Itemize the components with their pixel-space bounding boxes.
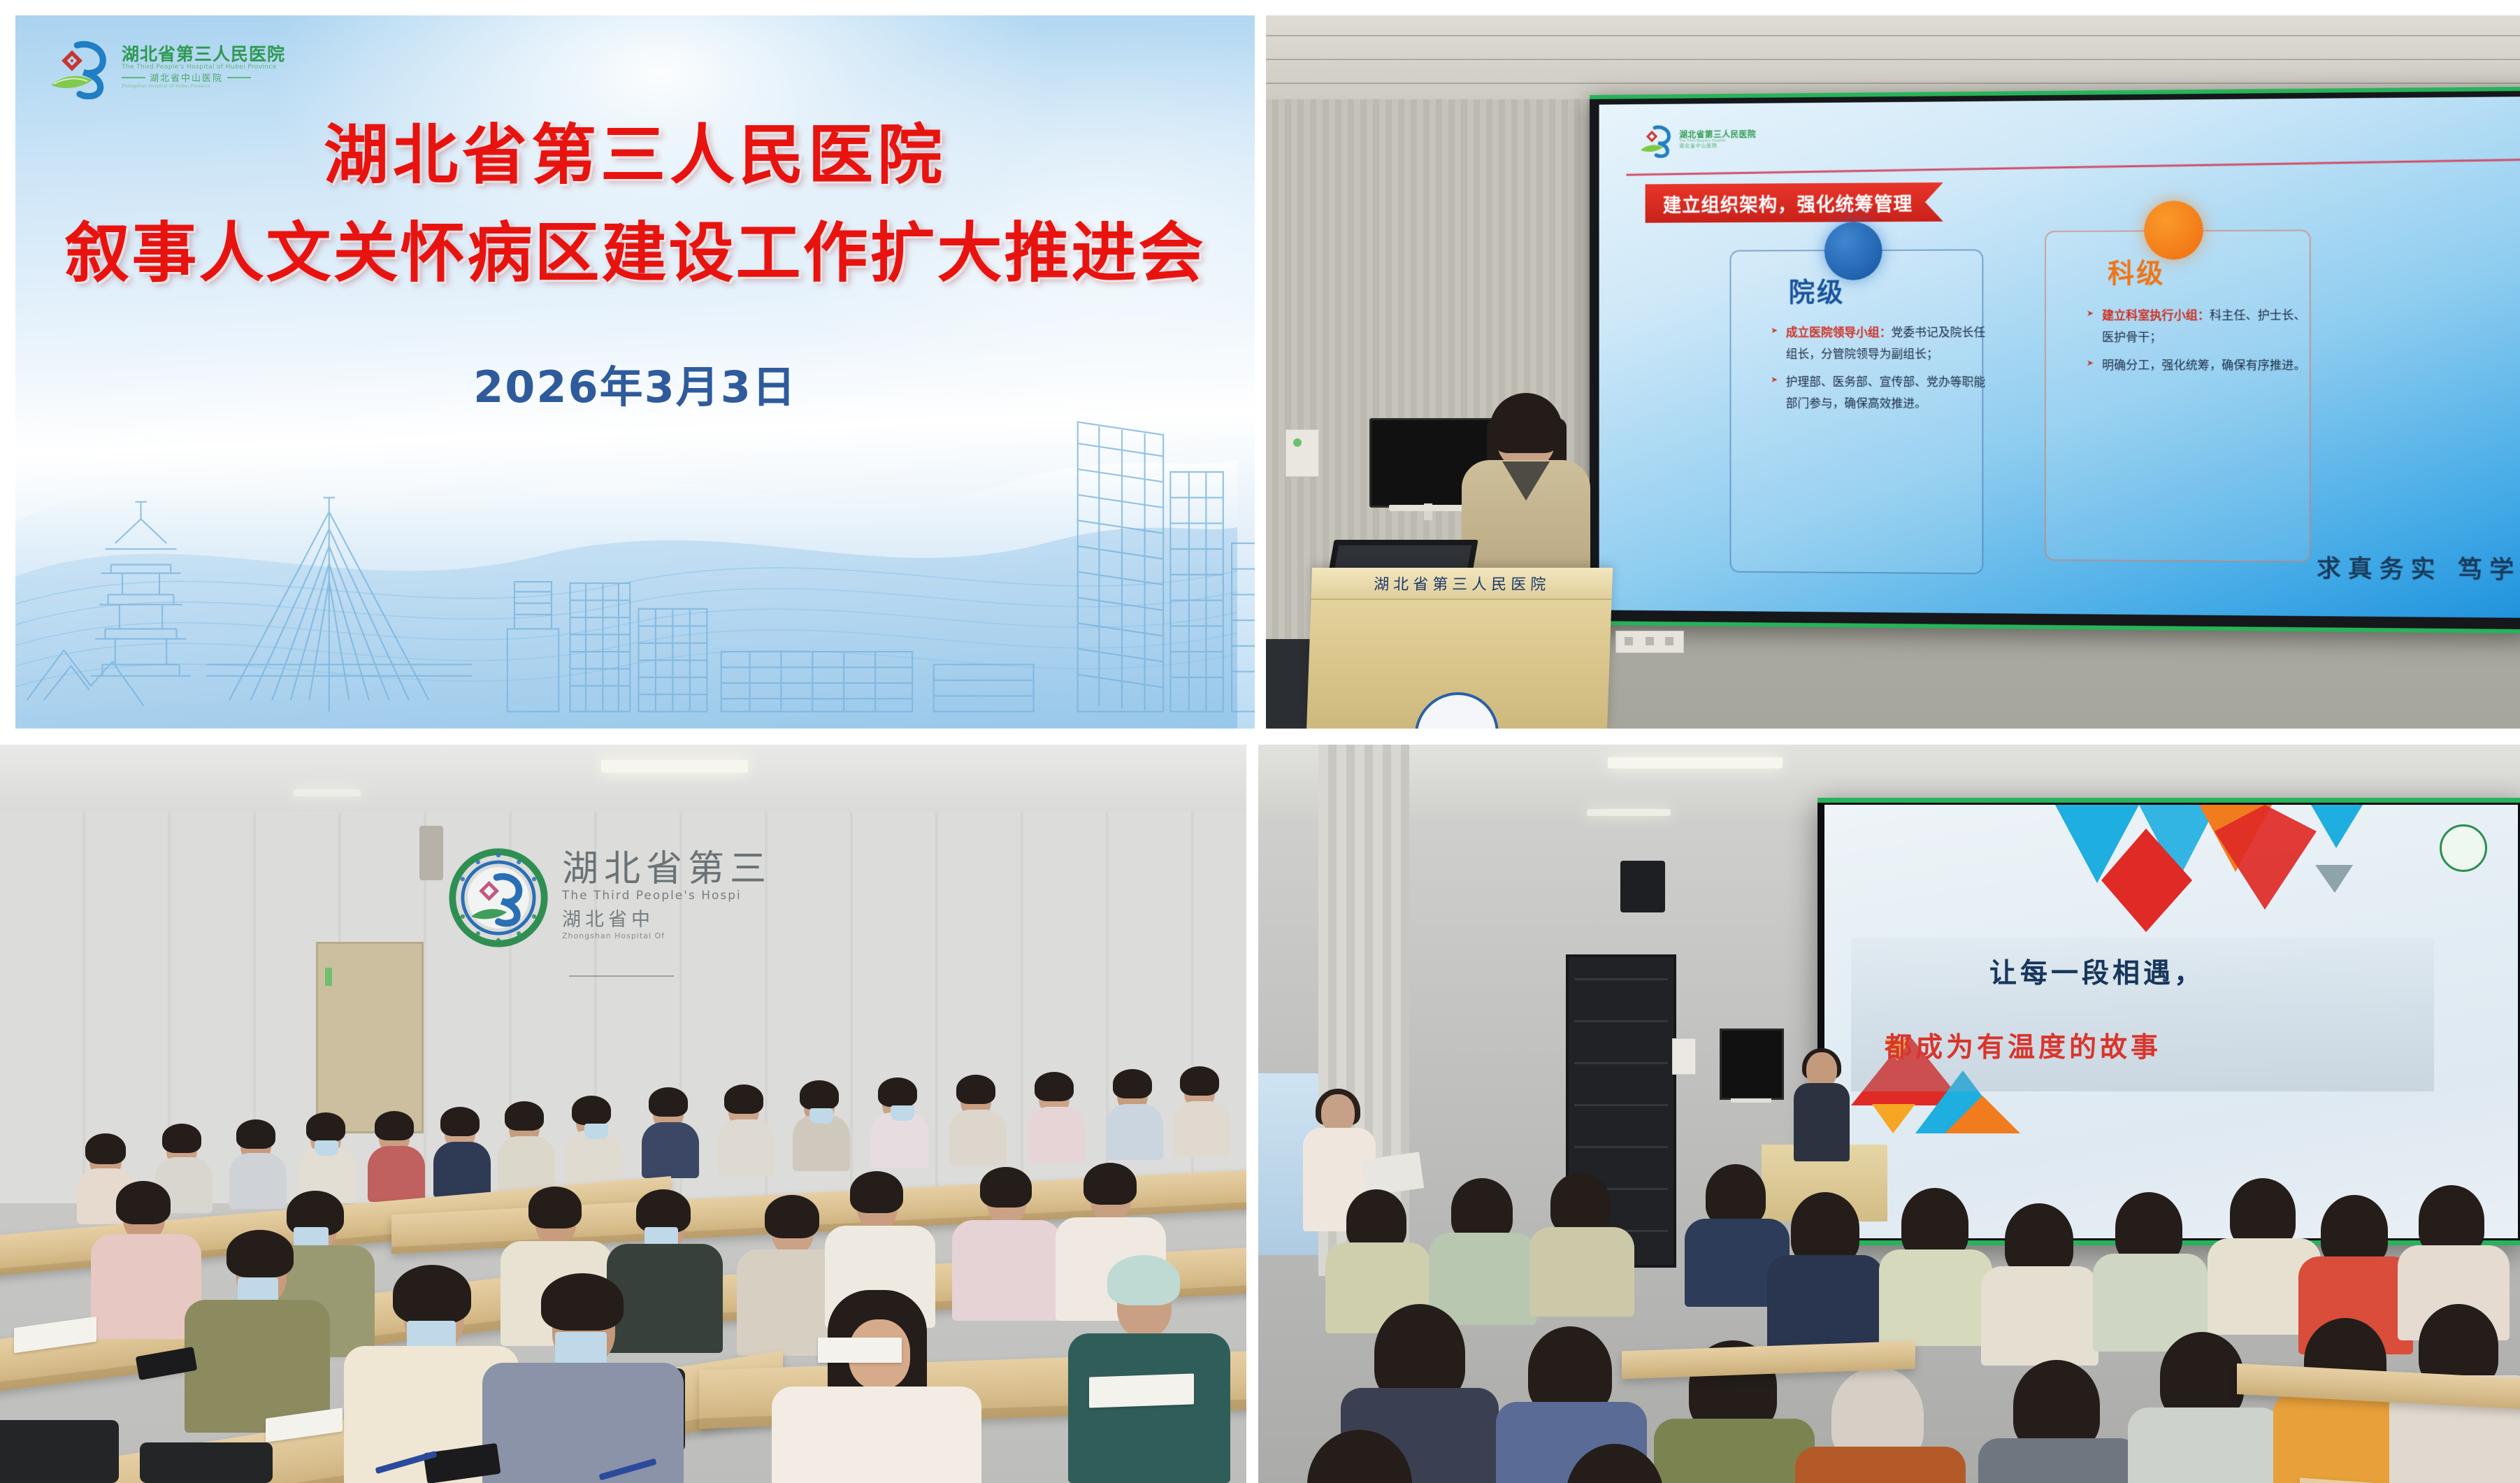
projected-slide: 让每一段相遇， 都成为有温度的故事: [1824, 805, 2518, 1238]
notebook-on-desk: [1089, 1373, 1194, 1407]
panel-lecture-hall: 让每一段相遇， 都成为有温度的故事: [1258, 745, 2520, 1483]
slide-logo-text: 湖北省第三人民医院 The Third People's Hospital 湖北…: [1679, 130, 1756, 149]
ceiling-light: [1587, 809, 1671, 816]
hospital-name-en: The Third People's Hospital of Hubei Pro…: [122, 64, 285, 71]
hospital-name-cn: 湖北省第三人民医院: [122, 45, 285, 63]
ceiling-light: [1608, 757, 1783, 768]
slide-card-title-department: 科级: [2108, 251, 2165, 289]
podium-text: 湖北省第三人民医院: [1374, 572, 1550, 594]
wall-control-plate[interactable]: [1672, 1038, 1696, 1075]
slide-logo-mark-icon: [1639, 122, 1674, 158]
hospital-logo-mark-icon: [48, 35, 112, 99]
slide-bullets-department: 建立科室执行小组：科主任、护士长、医护骨干； 明确分工，强化统筹，确保有序推进。: [2059, 305, 2311, 383]
slide-logo-cn: 湖北省第三人民医院: [1679, 130, 1756, 139]
wall-sign-name-en: The Third People's Hospi: [562, 890, 772, 902]
wall-hospital-sign: 湖北省第三 The Third People's Hospi 湖北省中 Zhon…: [447, 847, 811, 987]
slide-logo-sub: 湖北省中山医院: [1679, 143, 1756, 149]
wall-sign-name-cn: 湖北省第三: [562, 851, 772, 887]
slide-section-tag: 建立组织架构，强化统筹管理: [1646, 182, 1943, 223]
hospital-sub-cn: 湖北省中山医院: [150, 74, 223, 83]
wall-sign-divider: [569, 975, 674, 977]
monitor-shelf: [1731, 1098, 1771, 1103]
slide-bullets-hospital: 成立医院领导小组：党委书记及院长任组长，分管院领导为副组长； 护理部、医务部、宣…: [1743, 322, 1990, 421]
slide-card-title-hospital: 院级: [1789, 271, 1845, 309]
logo-divider: 湖北省中山医院: [122, 72, 285, 83]
list-item: 成立医院领导小组：党委书记及院长任组长，分管院领导为副组长；: [1771, 322, 1990, 366]
banner-title-line2: 叙事人文关怀病区建设工作扩大推进会: [15, 215, 1255, 292]
chair: [0, 1420, 119, 1483]
slide-slogan-line2: 都成为有温度的故事: [1885, 1026, 2161, 1065]
hospital-logo: 湖北省第三人民医院 The Third People's Hospital of…: [48, 28, 299, 106]
wall-sign-text: 湖北省第三 The Third People's Hospi 湖北省中 Zhon…: [562, 847, 772, 940]
ceiling-light: [294, 789, 361, 796]
banner-date: 2026年3月3日: [15, 352, 1255, 415]
projected-slide: 湖北省第三人民医院 The Third People's Hospital 湖北…: [1599, 96, 2520, 618]
list-item: 建立科室执行小组：科主任、护士长、医护骨干；: [2087, 305, 2311, 349]
lecture-presenter: [1790, 1052, 1854, 1157]
wall-sign-logo-icon: [447, 847, 549, 949]
ceiling-light: [601, 760, 748, 773]
hospital-sub-en: Zhongshan Hospital Of Hubei Province: [122, 85, 285, 89]
room-door[interactable]: [316, 942, 424, 1133]
monitor-shelf: [1389, 505, 1467, 511]
projection-screen-frame: 湖北省第三人民医院 The Third People's Hospital 湖北…: [1590, 87, 2520, 633]
wall-monitor: [1720, 1029, 1784, 1100]
panel-conference-banner: 湖北省第三人民医院 The Third People's Hospital of…: [15, 15, 1255, 729]
podium-nameplate: 湖北省第三人民医院: [1311, 568, 1613, 600]
floor-socket: [1615, 631, 1684, 653]
slide-decor-top-icon: [2034, 805, 2426, 952]
slide-card-department-level: [2045, 229, 2311, 562]
panel-speaker-presentation: 湖北省第三人民医院 The Third People's Hospital 湖北…: [1266, 15, 2520, 729]
wall-speaker: [419, 826, 443, 880]
projection-screen: 让每一段相遇， 都成为有温度的故事: [1817, 798, 2520, 1245]
screen-motto-text: 求真务实 笃学争: [2317, 549, 2520, 585]
presenter-hair: [1490, 393, 1562, 453]
hospital-logo-text: 湖北省第三人民医院 The Third People's Hospital of…: [122, 45, 285, 89]
wall-sign-sub-en: Zhongshan Hospital Of: [562, 932, 772, 940]
notebook-on-desk: [818, 1338, 902, 1363]
wall-switch-plate[interactable]: [1286, 429, 1319, 477]
wall-sign-sub-cn: 湖北省中: [562, 910, 772, 929]
wall-speaker: [1620, 861, 1665, 912]
list-item: 护理部、医务部、宣传部、党办等职能部门参与，确保高效推进。: [1771, 372, 1990, 415]
photo-collage: 湖北省第三人民医院 The Third People's Hospital of…: [0, 0, 2520, 1483]
chair: [140, 1442, 273, 1483]
banner-title-block: 湖北省第三人民医院 叙事人文关怀病区建设工作扩大推进会 2026年3月3日: [15, 117, 1255, 415]
list-item: 明确分工，强化统筹，确保有序推进。: [2087, 355, 2311, 377]
speaker-podium: 湖北省第三人民医院: [1306, 568, 1613, 729]
podium-emblem-icon: [1413, 692, 1500, 729]
panel-audience-seated: 湖北省第三 The Third People's Hospi 湖北省中 Zhon…: [0, 745, 1246, 1483]
slide-hospital-logo: 湖北省第三人民医院 The Third People's Hospital 湖北…: [1639, 117, 1782, 162]
slide-seal-icon: [2440, 824, 2487, 872]
banner-title-line1: 湖北省第三人民医院: [15, 117, 1255, 194]
slide-slogan-line1: 让每一段相遇，: [1989, 952, 2205, 991]
